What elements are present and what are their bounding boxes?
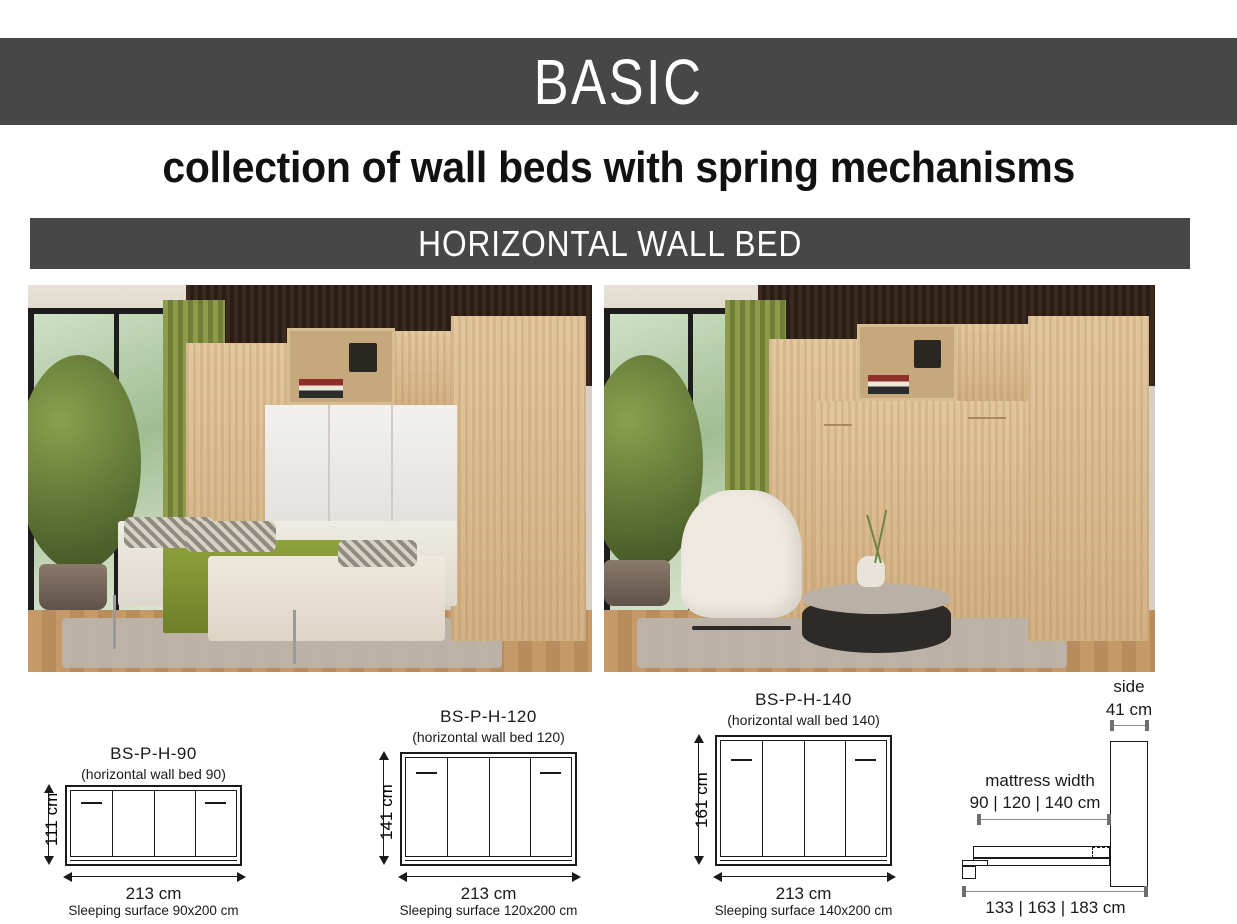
arrow-down-icon bbox=[379, 856, 389, 865]
armchair-base bbox=[692, 626, 791, 630]
panel-handle-left bbox=[81, 802, 102, 804]
bed-leg-left bbox=[113, 595, 116, 649]
panel-divider bbox=[530, 758, 531, 856]
books bbox=[299, 379, 344, 398]
panel-divider bbox=[154, 791, 155, 856]
cabinet-panels bbox=[720, 740, 887, 857]
diagram-3-code: BS-P-H-140 bbox=[715, 690, 892, 710]
bed-base-profile bbox=[973, 858, 1110, 866]
speaker-box bbox=[349, 343, 377, 372]
section-banner-label: HORIZONTAL WALL BED bbox=[418, 223, 802, 265]
diagram-2-height-label: 141 cm bbox=[377, 784, 397, 840]
diagram-2-width-line bbox=[405, 876, 572, 877]
bottom-rail bbox=[720, 860, 887, 861]
mattress-width-label: mattress width bbox=[965, 771, 1115, 791]
photo-wall-bed-closed bbox=[604, 285, 1155, 672]
photo-wall-bed-open bbox=[28, 285, 592, 672]
arrow-right-icon bbox=[887, 872, 896, 882]
diagram-1-height-label: 111 cm bbox=[42, 793, 62, 846]
cabinet-right-tall bbox=[1028, 316, 1149, 641]
bottom-rail bbox=[70, 860, 237, 861]
page-subtitle: collection of wall beds with spring mech… bbox=[0, 143, 1237, 193]
coffee-table-top bbox=[802, 583, 951, 614]
books bbox=[868, 375, 909, 394]
arrow-down-icon bbox=[44, 856, 54, 865]
arrow-left-icon bbox=[63, 872, 72, 882]
diagram-2-width-label: 213 cm bbox=[400, 884, 577, 904]
shelf-niche bbox=[857, 324, 956, 401]
side-view-depth-label: 41 cm bbox=[1083, 700, 1175, 720]
cabinet-panels bbox=[70, 790, 237, 857]
panel-divider bbox=[804, 741, 805, 856]
diagram-3-sleeping-surface: Sleeping surface 140x200 cm bbox=[680, 903, 927, 918]
diagram-1-width-label: 213 cm bbox=[65, 884, 242, 904]
panel-handle-right bbox=[540, 772, 561, 774]
diagram-3-width-line bbox=[720, 876, 887, 877]
total-tick-left bbox=[962, 886, 966, 897]
diagram-2-description: (horizontal wall bed 120) bbox=[375, 729, 602, 745]
arrow-up-icon bbox=[379, 751, 389, 760]
diagram-3-height-label: 161 cm bbox=[692, 772, 712, 828]
diagram-1-code: BS-P-H-90 bbox=[65, 744, 242, 764]
side-depth-line bbox=[1111, 725, 1148, 726]
diagram-1-width-line bbox=[70, 876, 237, 877]
panel-divider bbox=[762, 741, 763, 856]
diagram-1-sleeping-surface: Sleeping surface 90x200 cm bbox=[30, 903, 277, 918]
armchair bbox=[681, 490, 802, 618]
total-width-line bbox=[963, 891, 1148, 892]
panel-divider bbox=[447, 758, 448, 856]
bed-foot-leg bbox=[962, 866, 976, 879]
panel-handle-left bbox=[416, 772, 437, 774]
panel-divider bbox=[195, 791, 196, 856]
diagram-1-description: (horizontal wall bed 90) bbox=[40, 766, 267, 782]
panel-handle-right bbox=[855, 759, 876, 761]
total-width-values: 133 | 163 | 183 cm bbox=[963, 898, 1148, 918]
pillow-right bbox=[338, 540, 417, 567]
bottom-rail bbox=[405, 860, 572, 861]
bed-slab-profile bbox=[973, 846, 1110, 858]
panel-divider bbox=[845, 741, 846, 856]
side-cabinet-profile bbox=[1110, 741, 1148, 887]
panel-handle-left bbox=[731, 759, 752, 761]
diagram-3-cabinet bbox=[715, 735, 892, 866]
side-view-title: side bbox=[1089, 677, 1169, 697]
page-title: BASIC bbox=[534, 50, 704, 114]
diagram-2-sleeping-surface: Sleeping surface 120x200 cm bbox=[365, 903, 612, 918]
plant-pot bbox=[39, 564, 107, 610]
blanket bbox=[208, 556, 445, 641]
bed-leg-right bbox=[293, 610, 296, 664]
diagram-2-cabinet bbox=[400, 752, 577, 866]
panel-handle-right bbox=[205, 802, 226, 804]
pillow-center bbox=[186, 521, 276, 552]
diagram-3-width-label: 213 cm bbox=[715, 884, 892, 904]
arrow-up-icon bbox=[44, 784, 54, 793]
panel-divider bbox=[112, 791, 113, 856]
panel-divider bbox=[489, 758, 490, 856]
mattress-tick-right bbox=[1107, 814, 1111, 825]
arrow-left-icon bbox=[713, 872, 722, 882]
cabinet-right-tall bbox=[451, 316, 586, 641]
arrow-left-icon bbox=[398, 872, 407, 882]
section-banner: HORIZONTAL WALL BED bbox=[30, 218, 1190, 269]
arrow-right-icon bbox=[572, 872, 581, 882]
mattress-width-line bbox=[978, 819, 1111, 820]
speaker-box bbox=[914, 340, 940, 369]
bed-hinge-dashed bbox=[1092, 847, 1110, 858]
title-banner: BASIC bbox=[0, 38, 1237, 125]
diagram-3-description: (horizontal wall bed 140) bbox=[690, 712, 917, 728]
mattress-width-values: 90 | 120 | 140 cm bbox=[955, 793, 1115, 813]
diagram-1-cabinet bbox=[65, 785, 242, 866]
arrow-up-icon bbox=[694, 734, 704, 743]
shelf-niche bbox=[287, 328, 394, 405]
depth-tick-left bbox=[1110, 720, 1114, 731]
diagram-2-code: BS-P-H-120 bbox=[400, 707, 577, 727]
arrow-down-icon bbox=[694, 856, 704, 865]
bed-handle-right bbox=[968, 417, 1007, 419]
depth-tick-right bbox=[1145, 720, 1149, 731]
bed-handle-left bbox=[824, 424, 852, 426]
arrow-right-icon bbox=[237, 872, 246, 882]
plant-pot bbox=[604, 560, 670, 606]
cabinet-top-bridge bbox=[951, 324, 1028, 401]
mattress-tick-left bbox=[977, 814, 981, 825]
total-tick-right bbox=[1144, 886, 1148, 897]
